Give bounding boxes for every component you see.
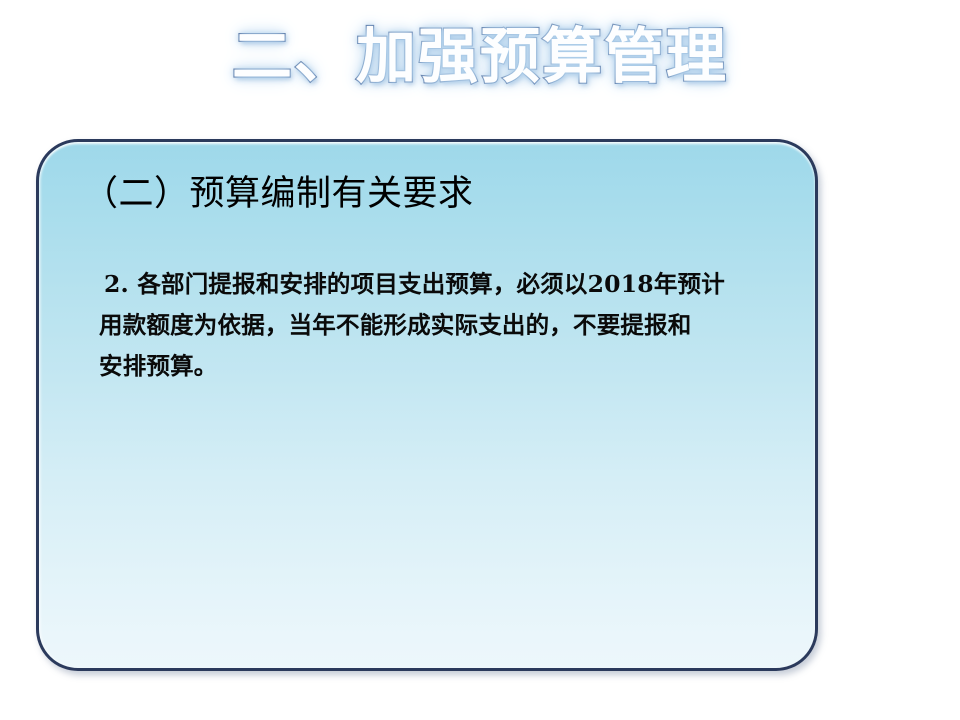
slide-title: 二、加强预算管理 [232, 18, 728, 96]
panel-heading: （二）预算编制有关要求 [83, 172, 474, 216]
body-line: 2. 各部门提报和安排的项目支出预算，必须以2018年预计 [99, 264, 759, 305]
slide-title-container: 二、加强预算管理 [0, 18, 960, 108]
body-line: 用款额度为依据，当年不能形成实际支出的，不要提报和 [99, 305, 759, 346]
content-panel: （二）预算编制有关要求 2. 各部门提报和安排的项目支出预算，必须以2018年预… [36, 139, 818, 671]
panel-body: 2. 各部门提报和安排的项目支出预算，必须以2018年预计 用款额度为依据，当年… [99, 264, 759, 387]
presentation-slide: 二、加强预算管理 （二）预算编制有关要求 2. 各部门提报和安排的项目支出预算，… [0, 0, 960, 720]
body-line: 安排预算。 [99, 346, 759, 387]
